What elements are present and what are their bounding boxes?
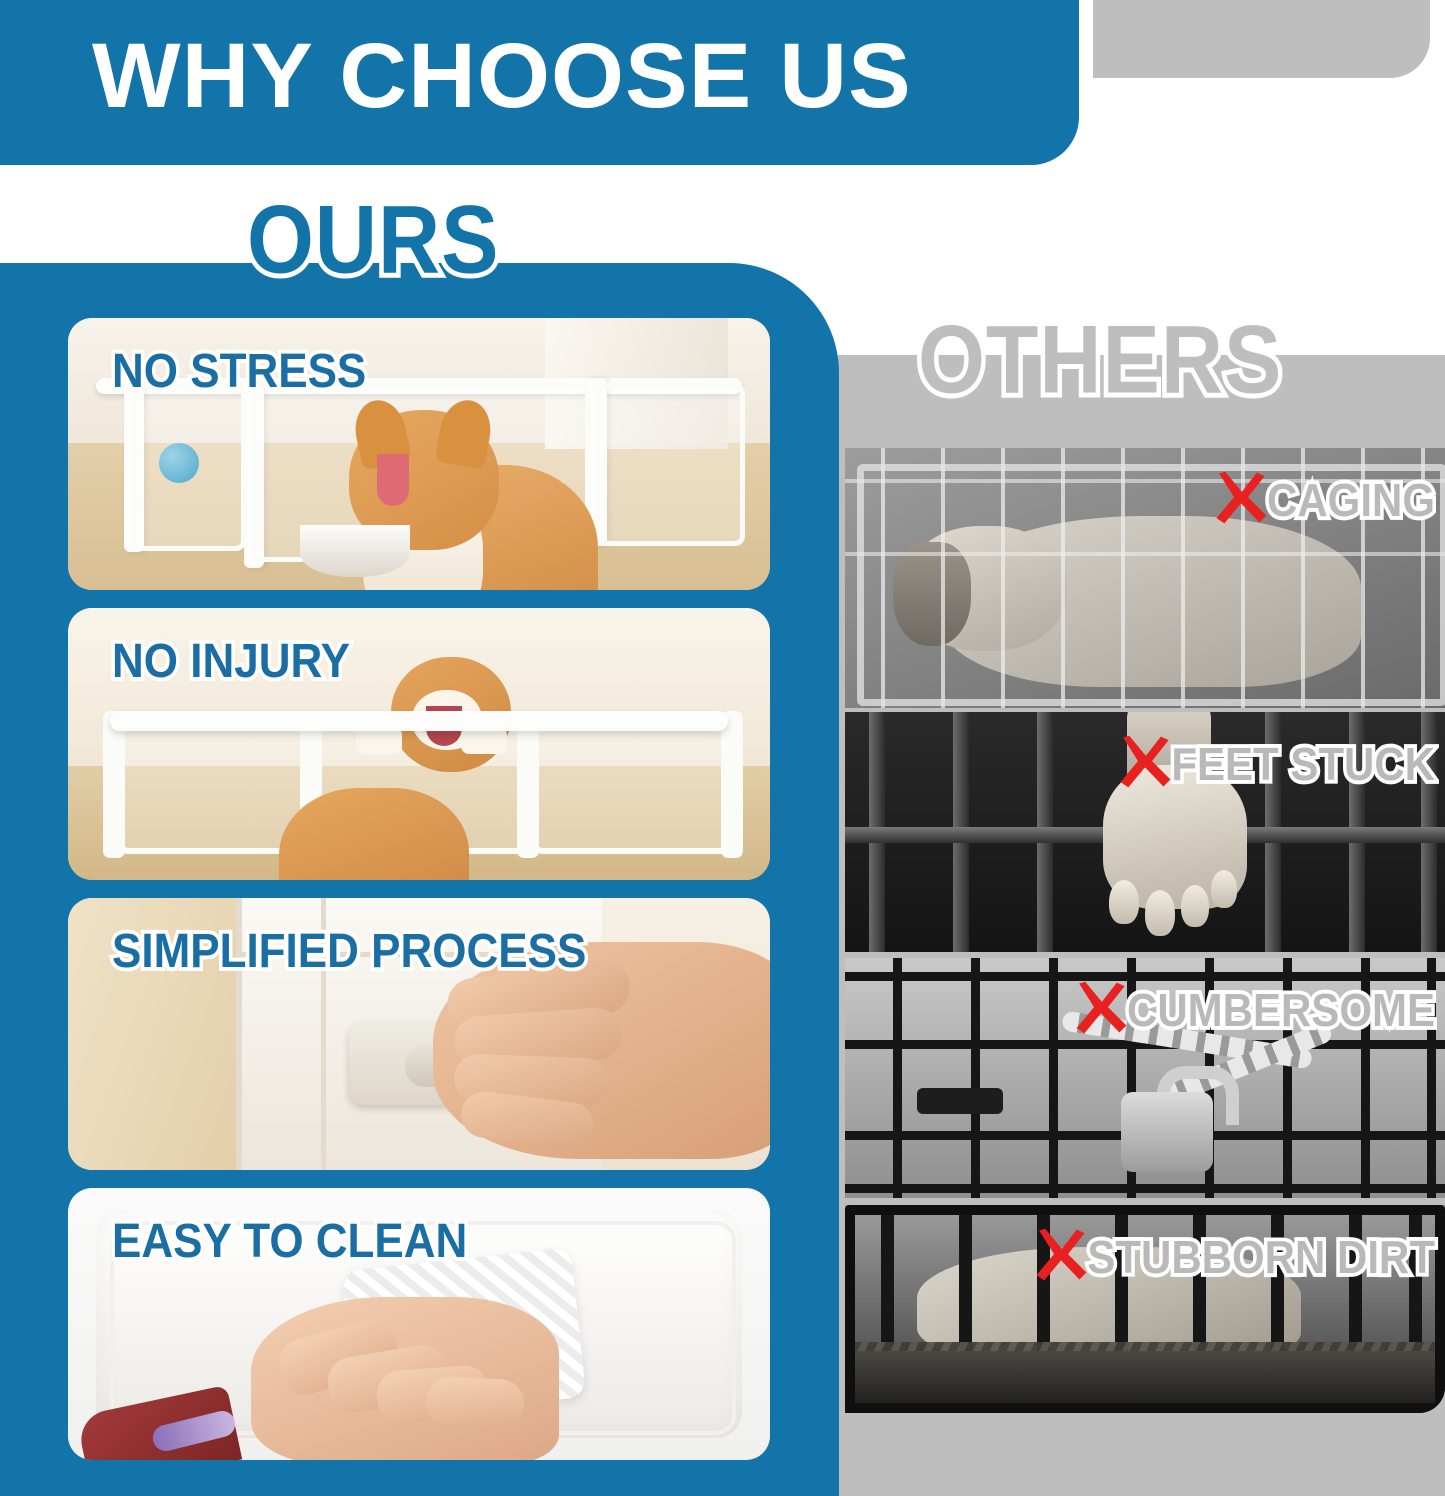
others-card-label-group: FEET STUCK [1117, 734, 1435, 790]
others-card-label: FEET STUCK [1171, 738, 1435, 791]
others-section-title: OTHERS [918, 312, 1282, 408]
others-card-label-group: CAGING [1213, 470, 1435, 526]
others-card-label: CAGING [1267, 474, 1435, 527]
red-x-icon [1073, 980, 1129, 1036]
others-card-stubborn-dirt: STUBBORN DIRT [845, 1205, 1445, 1413]
header-gray-accent-banner [1093, 0, 1430, 78]
ours-card-label: EASY TO CLEAN [112, 1214, 467, 1269]
red-x-icon [1213, 470, 1269, 526]
page-title: WHY CHOOSE US [92, 30, 912, 122]
ours-card-label: NO INJURY [112, 634, 350, 689]
others-card-label-group: STUBBORN DIRT [1033, 1227, 1435, 1283]
ours-card-label: SIMPLIFIED PROCESS [112, 924, 586, 979]
ours-card-no-stress: NO STRESS [68, 318, 770, 590]
others-card-label: CUMBERSOME [1127, 984, 1435, 1037]
ours-card-easy-to-clean: EASY TO CLEAN [68, 1188, 770, 1460]
others-card-feet-stuck: FEET STUCK [845, 712, 1445, 952]
why-choose-us-poster: WHY CHOOSE US OURS OTHERS NO STRESS [0, 0, 1445, 1496]
others-card-caging: CAGING [845, 448, 1445, 708]
ours-card-label: NO STRESS [112, 344, 366, 399]
ours-card-no-injury: NO INJURY [68, 608, 770, 880]
red-x-icon [1033, 1227, 1089, 1283]
others-card-label-group: CUMBERSOME [1073, 980, 1435, 1036]
ours-section-title: OURS [247, 192, 499, 288]
others-card-cumbersome: CUMBERSOME [845, 958, 1445, 1198]
red-x-icon [1117, 734, 1173, 790]
ours-card-simplified-process: SIMPLIFIED PROCESS [68, 898, 770, 1170]
others-card-label: STUBBORN DIRT [1087, 1231, 1435, 1284]
